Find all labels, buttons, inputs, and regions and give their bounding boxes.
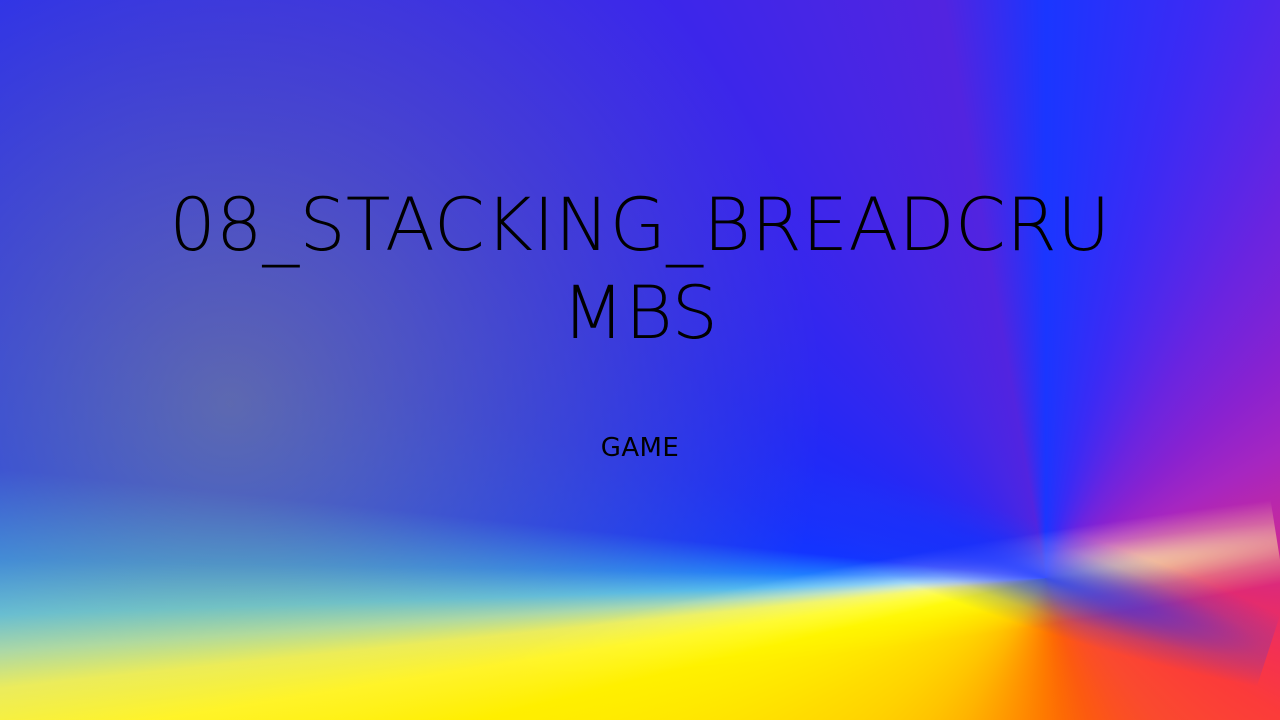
title-slide: 08_STACKING_BREADCRUMBS GAME xyxy=(0,0,1280,720)
slide-subtitle[interactable]: GAME xyxy=(160,432,1120,464)
slide-title[interactable]: 08_STACKING_BREADCRUMBS xyxy=(160,182,1120,358)
slide-content: 08_STACKING_BREADCRUMBS GAME xyxy=(0,0,1280,720)
